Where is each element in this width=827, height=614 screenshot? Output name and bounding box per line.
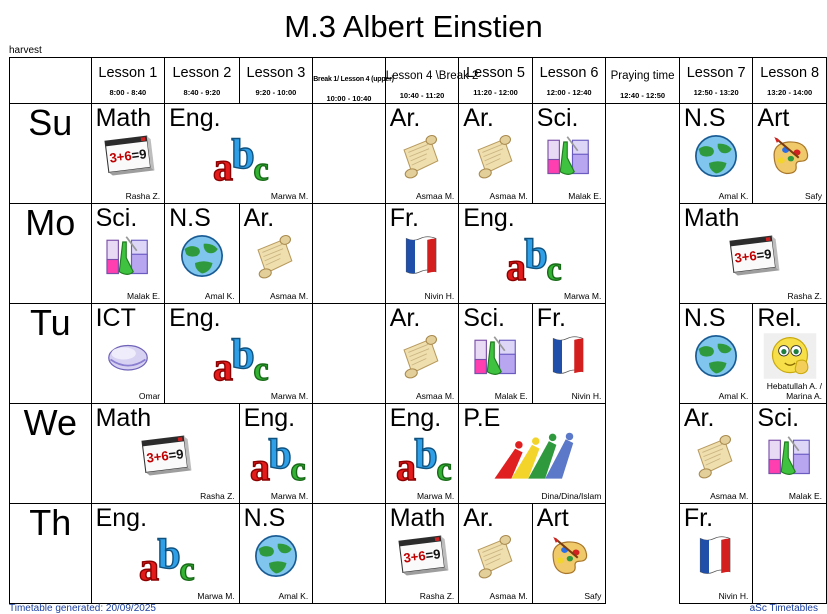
globe-icon: [688, 330, 744, 382]
teacher-label: Omar: [139, 392, 160, 402]
teacher-label: Nivin H.: [719, 592, 749, 602]
header-time: 10:40 - 11:20: [386, 91, 459, 100]
lesson-cell-inner: [313, 204, 385, 303]
day-label-we: We: [10, 404, 92, 504]
teacher-label: Asmaa M.: [416, 192, 454, 202]
science-icon: [100, 230, 156, 282]
lesson-cell-math[interactable]: Math 3+6=9 Rasha Z.: [385, 504, 459, 604]
teacher-label: Rasha Z.: [200, 492, 235, 502]
globe-icon: [174, 230, 230, 282]
lesson-cell-inner: Art Safy: [753, 104, 826, 203]
teacher-label: Dina/Dina/Islam: [541, 492, 601, 502]
svg-text:a: a: [250, 444, 270, 486]
footer-right: aSc Timetables: [750, 603, 818, 614]
lesson-cell-ar[interactable]: Ar. Asmaa M.: [459, 104, 533, 204]
lesson-cell-ict[interactable]: ICT Omar: [91, 304, 165, 404]
lesson-cell-eng[interactable]: Eng. a b c Marwa M.: [459, 204, 606, 304]
svg-text:b: b: [157, 532, 180, 578]
day-label-mo: Mo: [10, 204, 92, 304]
lesson-cell-inner: Eng. a b c Marwa M.: [240, 404, 313, 503]
lesson-cell-ns[interactable]: N.S Amal K.: [679, 304, 753, 404]
lesson-cell-inner: Ar. Asmaa M.: [459, 504, 532, 603]
teacher-label: Nivin H.: [425, 292, 455, 302]
lesson-cell-empty: [313, 404, 386, 504]
teacher-label: Amal K.: [719, 192, 749, 202]
lesson-cell-art[interactable]: Art Safy: [532, 504, 606, 604]
header-cell-lesson-2: Lesson 28:40 - 9:20: [165, 58, 240, 104]
teacher-label: Asmaa M.: [270, 292, 308, 302]
subject-label: Art: [537, 505, 569, 531]
lesson-cell-inner: N.S Amal K.: [240, 504, 313, 603]
subject-label: Ar.: [244, 205, 275, 231]
subject-label: Eng.: [169, 305, 220, 331]
lesson-cell-inner: Math 3+6=9 Rasha Z.: [680, 204, 826, 303]
teacher-label: Amal K.: [719, 392, 749, 402]
table-row: WeMath 3+6=9 Rasha Z.Eng. a b c Marwa M.…: [10, 404, 827, 504]
lesson-cell-inner: N.S Amal K.: [165, 204, 239, 303]
header-time: 13:20 - 14:00: [753, 88, 826, 97]
teacher-label: Safy: [584, 592, 601, 602]
teacher-label: Nivin H.: [572, 392, 602, 402]
lesson-cell-sci[interactable]: Sci. Malak E.: [532, 104, 606, 204]
lesson-cell-inner: N.S Amal K.: [680, 104, 753, 203]
day-label-su: Su: [10, 104, 92, 204]
subject-label: Rel.: [757, 305, 801, 331]
french-flag-icon: [394, 230, 450, 282]
lesson-cell-rel[interactable]: Rel. Hebatullah A. / Marina A.: [753, 304, 827, 404]
svg-text:c: c: [436, 451, 451, 486]
arabic-scroll-icon: [468, 530, 524, 582]
lesson-cell-inner: Math 3+6=9 Rasha Z.: [386, 504, 459, 603]
lesson-cell-eng[interactable]: Eng. a b c Marwa M.: [385, 404, 459, 504]
arabic-scroll-icon: [248, 230, 304, 282]
header-cell-lesson-8: Praying time12:40 - 12:50: [606, 58, 680, 104]
header-cell-lesson-4: Break 1/ Lesson 4 (upper)10:00 - 10:40: [313, 58, 386, 104]
lesson-cell-inner: Sci. Malak E.: [753, 404, 826, 503]
lesson-cell-inner: [313, 504, 385, 603]
svg-text:a: a: [506, 244, 526, 286]
lesson-cell-inner: Ar. Asmaa M.: [680, 404, 753, 503]
teacher-label: Marwa M.: [271, 392, 308, 402]
table-row: SuMath 3+6=9 Rasha Z.Eng. a b c Marwa M.…: [10, 104, 827, 204]
teacher-label: Marwa M.: [197, 592, 234, 602]
subject-label: ICT: [96, 305, 136, 331]
subject-label: Art: [757, 105, 789, 131]
lesson-cell-inner: N.S Amal K.: [680, 304, 753, 403]
subject-label: Eng.: [463, 205, 514, 231]
lesson-cell-math[interactable]: Math 3+6=9 Rasha Z.: [679, 204, 826, 304]
header-time: 12:50 - 13:20: [680, 88, 753, 97]
lesson-cell-inner: Eng. a b c Marwa M.: [459, 204, 605, 303]
footer-left: Timetable generated: 20/09/2025: [9, 603, 156, 614]
pe-runners-icon: [487, 430, 577, 486]
svg-text:b: b: [231, 132, 254, 178]
lesson-cell-inner: Math 3+6=9 Rasha Z.: [92, 404, 239, 503]
header-time: 11:20 - 12:00: [459, 88, 532, 97]
teacher-label: Rasha Z.: [788, 292, 823, 302]
subject-label: Sci.: [96, 205, 138, 231]
svg-text:a: a: [213, 344, 233, 386]
lesson-cell-fr[interactable]: Fr. Nivin H.: [679, 504, 753, 604]
header-time: 8:40 - 9:20: [165, 88, 239, 97]
lesson-cell-eng[interactable]: Eng. a b c Marwa M.: [91, 504, 239, 604]
subject-label: Sci.: [757, 405, 799, 431]
arabic-scroll-icon: [468, 130, 524, 182]
lesson-cell-ar[interactable]: Ar. Asmaa M.: [239, 204, 313, 304]
header-cell-lesson-7: Lesson 612:00 - 12:40: [532, 58, 606, 104]
french-flag-icon: [541, 330, 597, 382]
lesson-cell-inner: Eng. a b c Marwa M.: [386, 404, 459, 503]
subject-label: Ar.: [390, 105, 421, 131]
subject-label: Ar.: [684, 405, 715, 431]
lesson-cell-ns[interactable]: N.S Amal K.: [165, 204, 240, 304]
table-row: ThEng. a b c Marwa M.N.S Amal K.Math 3+6…: [10, 504, 827, 604]
lesson-cell-inner: Ar. Asmaa M.: [240, 204, 313, 303]
science-icon: [541, 130, 597, 182]
subject-label: Eng.: [244, 405, 295, 431]
subject-label: Ar.: [390, 305, 421, 331]
subject-label: Sci.: [537, 105, 579, 131]
lesson-cell-ar[interactable]: Ar. Asmaa M.: [679, 404, 753, 504]
computer-mouse-icon: [100, 330, 156, 382]
table-row: TuICT OmarEng. a b c Marwa M.Ar. Asmaa M…: [10, 304, 827, 404]
header-time: 8:00 - 8:40: [92, 88, 165, 97]
svg-text:b: b: [525, 232, 548, 278]
science-icon: [762, 430, 818, 482]
lesson-cell-inner: Math 3+6=9 Rasha Z.: [92, 104, 165, 203]
subject-label: Fr.: [390, 205, 419, 231]
subject-label: Math: [684, 205, 740, 231]
subject-label: Eng.: [390, 405, 441, 431]
timetable: Lesson 18:00 - 8:40Lesson 28:40 - 9:20Le…: [9, 57, 827, 604]
header-label: Lesson 8: [753, 58, 826, 81]
teacher-label: Rasha Z.: [420, 592, 455, 602]
lesson-cell-inner: P.E Dina/Dina/Islam: [459, 404, 605, 503]
math-icon: 3+6=9: [394, 530, 450, 582]
header-cell-lesson-10: Lesson 813:20 - 14:00: [753, 58, 827, 104]
teacher-label: Asmaa M.: [710, 492, 748, 502]
svg-text:c: c: [253, 351, 268, 386]
lesson-cell-inner: [753, 504, 826, 603]
math-icon: 3+6=9: [725, 230, 781, 282]
art-palette-icon: [762, 130, 818, 182]
praying-time-cell: [606, 304, 680, 404]
header-label: Lesson 6: [533, 58, 606, 81]
lesson-cell-empty: [313, 304, 386, 404]
svg-text:a: a: [139, 544, 159, 586]
praying-time-cell: [606, 104, 680, 204]
lesson-cell-inner: Eng. a b c Marwa M.: [92, 504, 239, 603]
art-palette-icon: [541, 530, 597, 582]
header-cell-lesson-1: Lesson 18:00 - 8:40: [91, 58, 165, 104]
svg-text:b: b: [414, 432, 437, 478]
subject-label: Eng.: [96, 505, 147, 531]
header-label: Lesson 2: [165, 58, 239, 81]
header-label: Break 1/ Lesson 4 (upper): [313, 58, 385, 87]
lesson-cell-inner: Ar. Asmaa M.: [386, 304, 459, 403]
lesson-cell-empty: [313, 104, 386, 204]
lesson-cell-inner: Ar. Asmaa M.: [459, 104, 532, 203]
lesson-cell-inner: Eng. a b c Marwa M.: [165, 304, 312, 403]
globe-icon: [688, 130, 744, 182]
teacher-label: Malak E.: [495, 392, 528, 402]
teacher-label: Asmaa M.: [490, 592, 528, 602]
lesson-cell-pe[interactable]: P.E Dina/Dina/Islam: [459, 404, 606, 504]
praying-smiley-icon: [762, 330, 818, 382]
header-corner-cell: [10, 58, 92, 104]
teacher-label: Marwa M.: [417, 492, 454, 502]
lesson-cell-ns[interactable]: N.S Amal K.: [239, 504, 313, 604]
teacher-label: Safy: [805, 192, 822, 202]
lesson-cell-math[interactable]: Math 3+6=9 Rasha Z.: [91, 104, 165, 204]
teacher-label: Amal K.: [278, 592, 308, 602]
subject-label: Ar.: [463, 505, 494, 531]
teacher-label: Marwa M.: [271, 192, 308, 202]
subject-label: P.E: [463, 405, 500, 431]
lesson-cell-empty: [753, 504, 827, 604]
table-row: MoSci. Malak E.N.S Amal K.Ar. Asmaa M.Fr…: [10, 204, 827, 304]
timetable-header-row: Lesson 18:00 - 8:40Lesson 28:40 - 9:20Le…: [10, 58, 827, 104]
lesson-cell-inner: Ar. Asmaa M.: [386, 104, 459, 203]
svg-text:c: c: [180, 551, 195, 586]
lesson-cell-empty: [313, 204, 386, 304]
header-label: Lesson 3: [240, 58, 313, 81]
day-label-th: Th: [10, 504, 92, 604]
subject-label: Fr.: [684, 505, 713, 531]
header-cell-lesson-3: Lesson 39:20 - 10:00: [239, 58, 313, 104]
timetable-page: M.3 Albert Einstien harvest Lesson 18:00…: [0, 0, 827, 614]
lesson-cell-empty: [313, 504, 386, 604]
lesson-cell-inner: Fr. Nivin H.: [386, 204, 459, 303]
header-label: Lesson 7: [680, 58, 753, 81]
teacher-label: Rasha Z.: [126, 192, 161, 202]
subject-label: Sci.: [463, 305, 505, 331]
day-label-tu: Tu: [10, 304, 92, 404]
header-cell-lesson-9: Lesson 712:50 - 13:20: [679, 58, 753, 104]
svg-text:b: b: [268, 432, 291, 478]
globe-icon: [248, 530, 304, 582]
praying-time-cell: [606, 504, 680, 604]
subject-label: N.S: [244, 505, 286, 531]
header-time: 10:00 - 10:40: [313, 94, 385, 103]
arabic-scroll-icon: [688, 430, 744, 482]
teacher-label: Asmaa M.: [416, 392, 454, 402]
subject-label: Fr.: [537, 305, 566, 331]
teacher-label: Malak E.: [127, 292, 160, 302]
lesson-cell-eng[interactable]: Eng. a b c Marwa M.: [239, 404, 313, 504]
header-label: Praying time: [606, 58, 679, 84]
lesson-cell-ns[interactable]: N.S Amal K.: [679, 104, 753, 204]
subject-label: N.S: [684, 305, 726, 331]
lesson-cell-eng[interactable]: Eng. a b c Marwa M.: [165, 304, 313, 404]
lesson-cell-inner: Rel. Hebatullah A. / Marina A.: [753, 304, 826, 403]
lesson-cell-ar[interactable]: Ar. Asmaa M.: [385, 104, 459, 204]
lesson-cell-fr[interactable]: Fr. Nivin H.: [385, 204, 459, 304]
header-cell-lesson-5: Lesson 4 \Break 210:40 - 11:20: [385, 58, 459, 104]
lesson-cell-inner: Art Safy: [533, 504, 606, 603]
teacher-label: Malak E.: [789, 492, 822, 502]
header-label: Lesson 4 \Break 2: [386, 58, 459, 84]
lesson-cell-inner: Sci. Malak E.: [533, 104, 606, 203]
teacher-label: Asmaa M.: [490, 192, 528, 202]
english-icon: a b c: [194, 330, 284, 386]
lesson-cell-sci[interactable]: Sci. Malak E.: [753, 404, 827, 504]
arabic-scroll-icon: [394, 130, 450, 182]
header-label: Lesson 5: [459, 58, 532, 81]
teacher-label: Hebatullah A. / Marina A.: [767, 382, 822, 401]
teacher-label: Malak E.: [568, 192, 601, 202]
lesson-cell-ar[interactable]: Ar. Asmaa M.: [459, 504, 533, 604]
lesson-cell-inner: [313, 104, 385, 203]
subject-label: N.S: [169, 205, 211, 231]
english-icon: a b c: [386, 430, 459, 486]
page-title: M.3 Albert Einstien: [0, 0, 827, 44]
svg-text:c: c: [253, 151, 268, 186]
teacher-label: Marwa M.: [564, 292, 601, 302]
subject-label: N.S: [684, 105, 726, 131]
header-time: 9:20 - 10:00: [240, 88, 313, 97]
lesson-cell-sci[interactable]: Sci. Malak E.: [459, 304, 533, 404]
english-icon: a b c: [487, 230, 577, 286]
header-label: Lesson 1: [92, 58, 165, 81]
math-icon: 3+6=9: [137, 430, 193, 482]
svg-text:b: b: [231, 332, 254, 378]
subject-label: Math: [390, 505, 446, 531]
lesson-cell-inner: Fr. Nivin H.: [533, 304, 606, 403]
subject-label: Math: [96, 405, 152, 431]
lesson-cell-ar[interactable]: Ar. Asmaa M.: [385, 304, 459, 404]
teacher-label: Marwa M.: [271, 492, 308, 502]
header-time: 12:00 - 12:40: [533, 88, 606, 97]
praying-time-cell: [606, 204, 680, 304]
english-icon: a b c: [194, 130, 284, 186]
lesson-cell-art[interactable]: Art Safy: [753, 104, 827, 204]
subject-label: Math: [96, 105, 152, 131]
lesson-cell-inner: [313, 404, 385, 503]
lesson-cell-inner: Eng. a b c Marwa M.: [165, 104, 312, 203]
svg-text:c: c: [290, 451, 305, 486]
english-icon: a b c: [120, 530, 210, 586]
lesson-cell-inner: Sci. Malak E.: [92, 204, 165, 303]
lesson-cell-inner: Fr. Nivin H.: [680, 504, 753, 603]
lesson-cell-inner: Sci. Malak E.: [459, 304, 532, 403]
math-icon: 3+6=9: [100, 130, 156, 182]
svg-text:c: c: [547, 251, 562, 286]
lesson-cell-fr[interactable]: Fr. Nivin H.: [532, 304, 606, 404]
lesson-cell-sci[interactable]: Sci. Malak E.: [91, 204, 165, 304]
header-time: 12:40 - 12:50: [606, 91, 679, 100]
science-icon: [468, 330, 524, 382]
svg-text:a: a: [396, 444, 416, 486]
teacher-label: Amal K.: [205, 292, 235, 302]
header-cell-lesson-6: Lesson 511:20 - 12:00: [459, 58, 533, 104]
lesson-cell-inner: ICT Omar: [92, 304, 165, 403]
lesson-cell-math[interactable]: Math 3+6=9 Rasha Z.: [91, 404, 239, 504]
subject-label: Eng.: [169, 105, 220, 131]
praying-time-cell: [606, 404, 680, 504]
lesson-cell-eng[interactable]: Eng. a b c Marwa M.: [165, 104, 313, 204]
english-icon: a b c: [240, 430, 313, 486]
french-flag-icon: [688, 530, 744, 582]
svg-text:a: a: [213, 144, 233, 186]
arabic-scroll-icon: [394, 330, 450, 382]
lesson-cell-inner: [313, 304, 385, 403]
subject-label: Ar.: [463, 105, 494, 131]
